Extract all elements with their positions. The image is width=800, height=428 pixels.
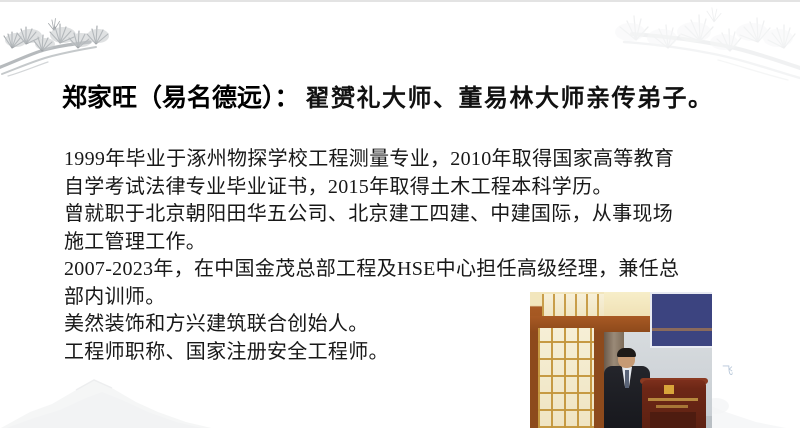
pine-branch-top-left-icon xyxy=(0,6,146,84)
top-divider xyxy=(0,0,800,2)
biography-line: 2007-2023年，在中国金茂总部工程及HSE中心担任高级经理，兼任总 xyxy=(64,256,764,284)
biography-line: 曾就职于北京朝阳田华五公司、北京建工四建、中建国际，从事现场 xyxy=(64,201,764,229)
slide-canvas: 郑家旺（易名德远）：翟赟礼大师、董易林大师亲传弟子。 1999年毕业于涿州物探学… xyxy=(0,0,800,428)
photo-lattice-screen xyxy=(538,328,594,428)
photo-lattice-transom xyxy=(542,294,604,316)
photo-projection-screen-band xyxy=(652,328,712,331)
biography-line: 自学考试法律专业毕业证书，2015年取得土木工程本科学历。 xyxy=(64,174,764,202)
photo-speaker-tie xyxy=(625,370,629,388)
photo-speaker-hair xyxy=(617,348,636,357)
biography-line: 施工管理工作。 xyxy=(64,229,764,257)
title-person-name: 郑家旺（易名德远）： xyxy=(62,84,300,112)
photo-podium-text-line-1 xyxy=(648,398,698,401)
photo-podium-emblem xyxy=(664,385,674,394)
pine-branch-top-right-icon xyxy=(575,0,800,89)
biography-line: 1999年毕业于涿州物探学校工程测量专业，2010年取得国家高等教育 xyxy=(64,146,764,174)
speaker-photo xyxy=(530,292,712,428)
photo-projection-screen xyxy=(650,292,712,348)
slide-title: 郑家旺（易名德远）：翟赟礼大师、董易林大师亲传弟子。 xyxy=(62,78,782,118)
photo-watermark: 飞 xyxy=(722,362,733,378)
title-lineage-text: 翟赟礼大师、董易林大师亲传弟子。 xyxy=(306,86,714,112)
mountain-watermark-bottom-left-icon xyxy=(0,368,310,428)
photo-podium-text-line-2 xyxy=(656,405,688,408)
photo-podium-base xyxy=(650,412,696,428)
